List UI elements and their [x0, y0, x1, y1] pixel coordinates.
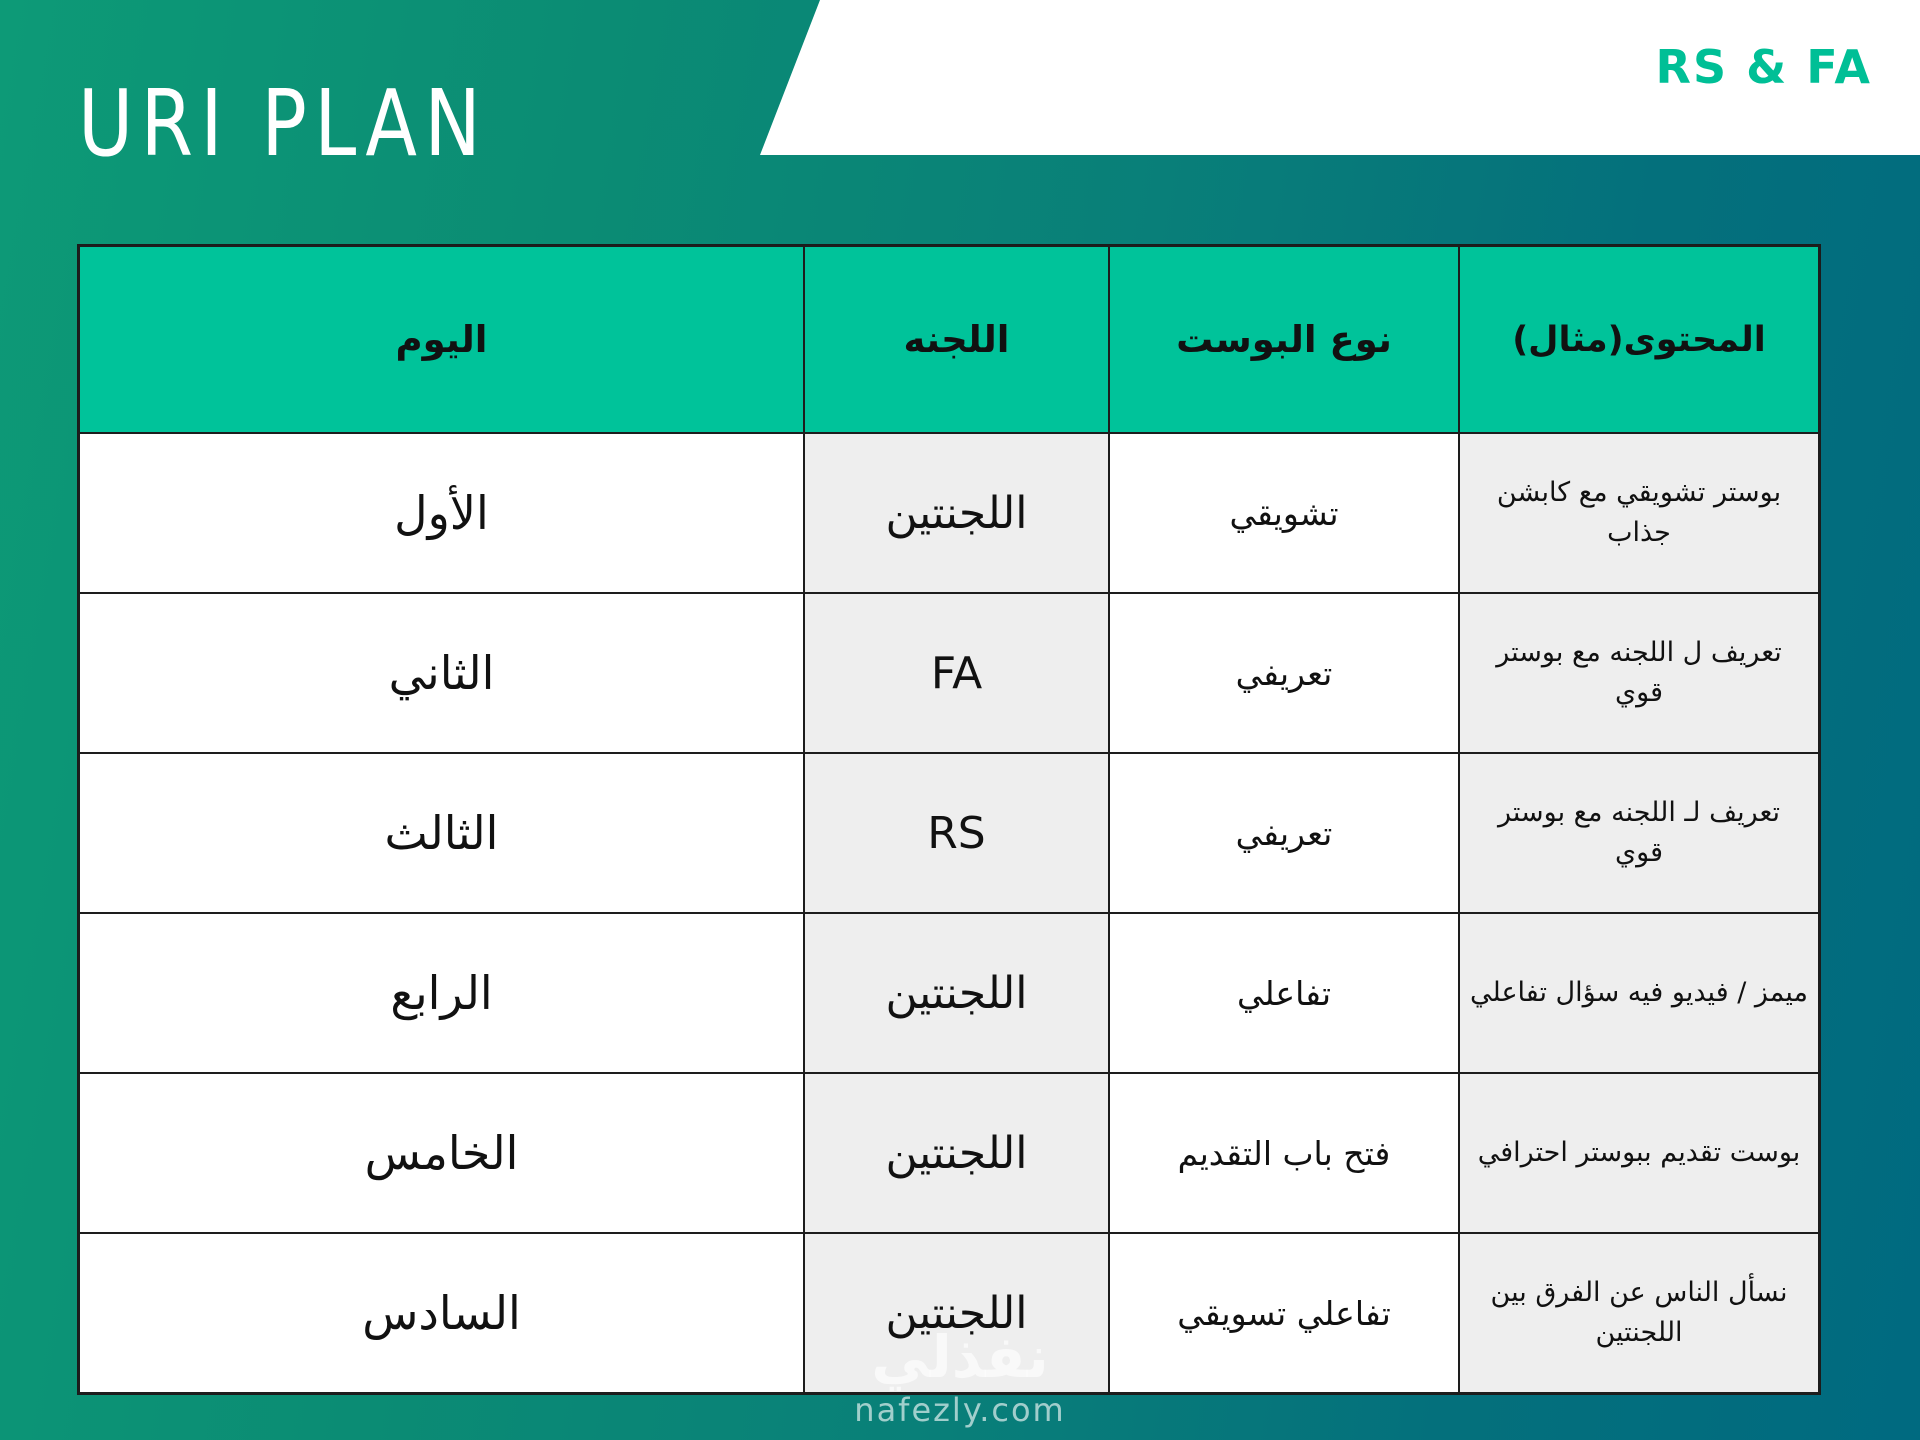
cell-content: تعريف لـ اللجنه مع بوستر قوي	[1459, 753, 1819, 913]
cell-committee: اللجنتين	[804, 913, 1109, 1073]
plan-table: المحتوى(مثال) نوع البوست اللجنه اليوم بو…	[78, 245, 1820, 1394]
table-row: بوست تقديم ببوستر احترافي فتح باب التقدي…	[79, 1073, 1819, 1233]
watermark-url-text: nafezly.com	[854, 1394, 1065, 1426]
cell-post-type: تشويقي	[1109, 433, 1459, 593]
cell-content: ميمز / فيديو فيه سؤال تفاعلي	[1459, 913, 1819, 1073]
column-header-post-type: نوع البوست	[1109, 246, 1459, 433]
table-row: نسأل الناس عن الفرق بين اللجنتين تفاعلي …	[79, 1233, 1819, 1393]
cell-day: السادس	[79, 1233, 804, 1393]
table-header-row: المحتوى(مثال) نوع البوست اللجنه اليوم	[79, 246, 1819, 433]
cell-committee: اللجنتين	[804, 1233, 1109, 1393]
table-head: المحتوى(مثال) نوع البوست اللجنه اليوم	[79, 246, 1819, 433]
table-body: بوستر تشويقي مع كابشن جذاب تشويقي اللجنت…	[79, 433, 1819, 1393]
cell-content: تعريف ل اللجنه مع بوستر قوي	[1459, 593, 1819, 753]
cell-day: الأول	[79, 433, 804, 593]
column-header-content: المحتوى(مثال)	[1459, 246, 1819, 433]
table-row: بوستر تشويقي مع كابشن جذاب تشويقي اللجنت…	[79, 433, 1819, 593]
cell-committee: FA	[804, 593, 1109, 753]
cell-day: الثالث	[79, 753, 804, 913]
cell-content: نسأل الناس عن الفرق بين اللجنتين	[1459, 1233, 1819, 1393]
cell-post-type: فتح باب التقديم	[1109, 1073, 1459, 1233]
cell-committee: اللجنتين	[804, 433, 1109, 593]
column-header-day: اليوم	[79, 246, 804, 433]
cell-day: الثاني	[79, 593, 804, 753]
slide-root: RS & FA URI PLAN المحتوى(مثال) نوع البوس…	[0, 0, 1920, 1440]
table-row: تعريف ل اللجنه مع بوستر قوي تعريفي FA ال…	[79, 593, 1819, 753]
cell-post-type: تعريفي	[1109, 593, 1459, 753]
cell-content: بوست تقديم ببوستر احترافي	[1459, 1073, 1819, 1233]
table-row: ميمز / فيديو فيه سؤال تفاعلي تفاعلي اللج…	[79, 913, 1819, 1073]
plan-table-container: المحتوى(مثال) نوع البوست اللجنه اليوم بو…	[78, 245, 1818, 1394]
cell-content: بوستر تشويقي مع كابشن جذاب	[1459, 433, 1819, 593]
cell-post-type: تعريفي	[1109, 753, 1459, 913]
banner-label: RS & FA	[1656, 40, 1872, 94]
column-header-committee: اللجنه	[804, 246, 1109, 433]
page-title: URI PLAN	[78, 78, 488, 170]
cell-day: الخامس	[79, 1073, 804, 1233]
cell-post-type: تفاعلي تسويقي	[1109, 1233, 1459, 1393]
cell-day: الرابع	[79, 913, 804, 1073]
cell-committee: اللجنتين	[804, 1073, 1109, 1233]
cell-committee: RS	[804, 753, 1109, 913]
cell-post-type: تفاعلي	[1109, 913, 1459, 1073]
table-row: تعريف لـ اللجنه مع بوستر قوي تعريفي RS ا…	[79, 753, 1819, 913]
